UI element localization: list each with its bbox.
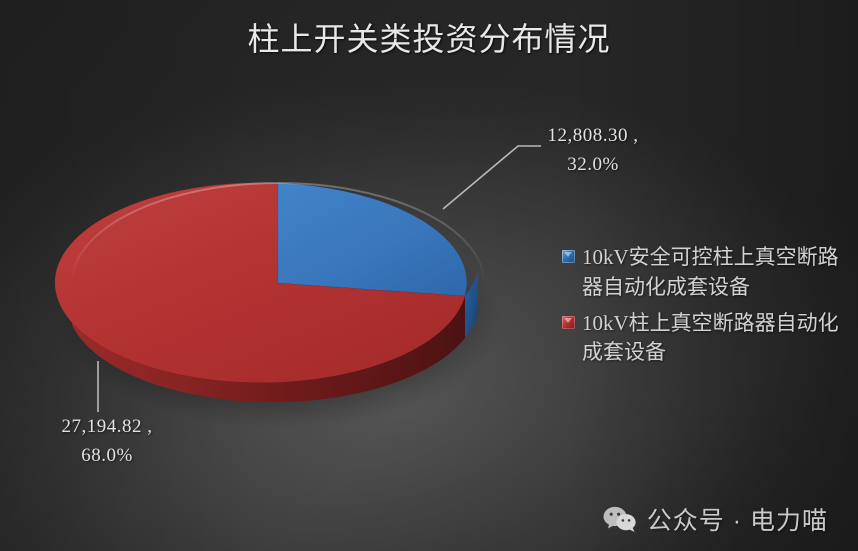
data-label-red: 27,194.82 , 68.0% <box>22 413 192 470</box>
pie-slice-blue-top <box>278 183 467 296</box>
legend-item-blue[interactable]: 10kV安全可控柱上真空断路器自动化成套设备 <box>562 243 848 303</box>
watermark: 公众号 · 电力喵 <box>603 501 828 537</box>
wechat-icon <box>603 506 637 533</box>
chart-canvas: 柱上开关类投资分布情况 <box>0 0 858 551</box>
legend-marker-red-icon <box>562 316 575 329</box>
data-label-blue-percent: 32.0% <box>508 151 678 180</box>
data-label-red-percent: 68.0% <box>22 442 192 471</box>
chart-legend: 10kV安全可控柱上真空断路器自动化成套设备 10kV柱上真空断路器自动化成套设… <box>562 243 848 374</box>
legend-item-red[interactable]: 10kV柱上真空断路器自动化成套设备 <box>562 309 848 369</box>
page-title: 柱上开关类投资分布情况 <box>0 14 858 60</box>
legend-marker-blue-icon <box>562 250 575 263</box>
data-label-blue-value: 12,808.30 , <box>508 122 678 151</box>
data-label-blue: 12,808.30 , 32.0% <box>508 122 678 179</box>
data-label-red-value: 27,194.82 , <box>22 413 192 442</box>
legend-item-blue-label: 10kV安全可控柱上真空断路器自动化成套设备 <box>582 243 848 303</box>
legend-item-red-label: 10kV柱上真空断路器自动化成套设备 <box>582 309 848 369</box>
watermark-text: 公众号 · 电力喵 <box>647 501 828 537</box>
